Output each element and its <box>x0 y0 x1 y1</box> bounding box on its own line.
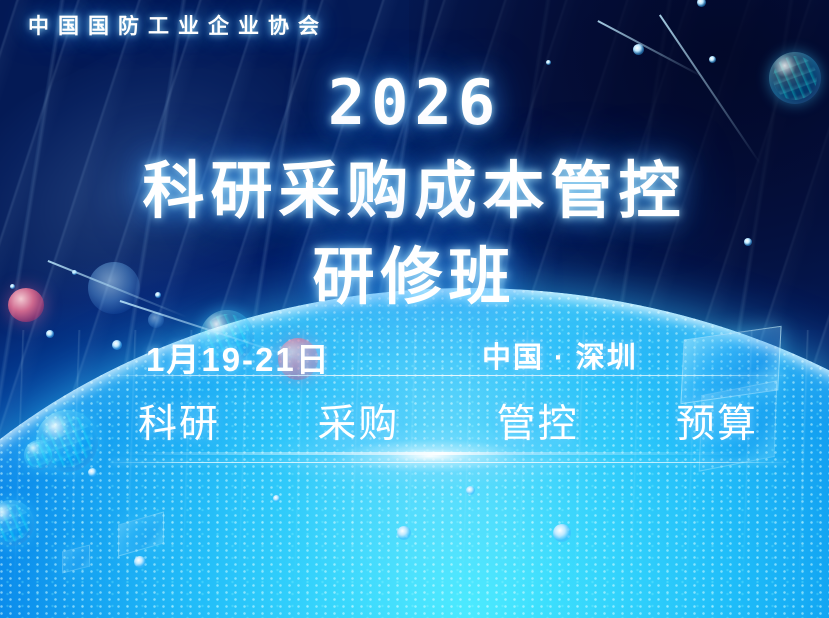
keyword-item-1: 科研 <box>138 393 220 449</box>
keyword-item-2: 采购 <box>317 393 399 449</box>
event-info-row: 1月19-21日 中国 · 深圳 <box>110 333 785 375</box>
keyword-list: 科研 采购 管控 预算 <box>110 392 786 450</box>
event-year: 2026 <box>0 66 829 139</box>
keyword-item-4: 预算 <box>676 393 758 449</box>
event-title-line-2: 研修班 <box>0 226 829 316</box>
event-poster: 中国国防工业企业协会 2026 科研采购成本管控 研修班 1月19-21日 中国… <box>0 0 829 618</box>
event-location: 中国 · 深圳 <box>482 334 638 376</box>
divider-bottom <box>110 462 786 463</box>
association-name: 中国国防工业企业协会 <box>28 10 328 40</box>
event-title-line-1: 科研采购成本管控 <box>0 140 829 230</box>
keyword-item-3: 管控 <box>497 393 579 449</box>
event-date: 1月19-21日 <box>146 333 331 381</box>
